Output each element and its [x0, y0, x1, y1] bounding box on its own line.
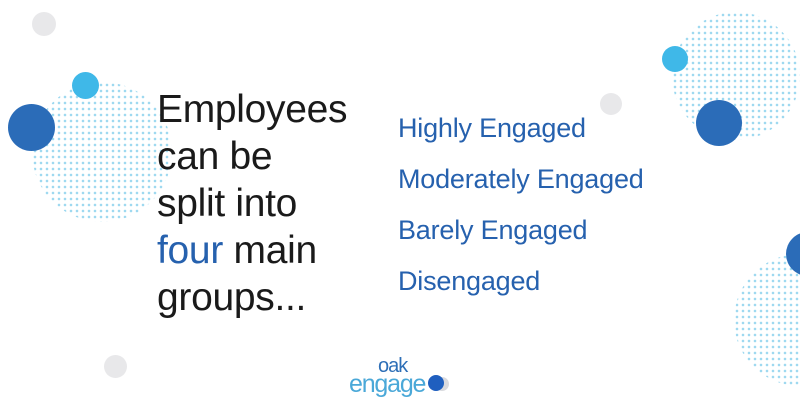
- headline-line-4-rest: main: [223, 229, 317, 272]
- headline: Employees can be split into four main gr…: [157, 86, 372, 321]
- cyan-circle-top-left: [72, 72, 99, 99]
- headline-line-3: split into: [157, 182, 297, 225]
- cyan-circle-top-right: [662, 46, 688, 72]
- logo-svg: oak engage: [345, 352, 455, 404]
- engagement-group-list: Highly Engaged Moderately Engaged Barely…: [398, 103, 728, 307]
- slide-canvas: Employees can be split into four main gr…: [0, 0, 800, 420]
- blue-circle-top-left: [8, 104, 55, 151]
- group-item-barely-engaged: Barely Engaged: [398, 205, 728, 256]
- logo-mark-blue-circle: [428, 375, 444, 391]
- dotted-circle-bottom-right: [734, 254, 800, 386]
- logo-word-engage: engage: [349, 370, 426, 398]
- oak-engage-logo: oak engage: [345, 352, 455, 404]
- group-item-disengaged: Disengaged: [398, 256, 728, 307]
- headline-line-5: groups...: [157, 276, 306, 319]
- group-item-highly-engaged: Highly Engaged: [398, 103, 728, 154]
- headline-line-1: Employees: [157, 88, 347, 131]
- headline-line-2: can be: [157, 135, 272, 178]
- dotted-circle-top-left: [32, 82, 172, 222]
- headline-highlight-word: four: [157, 229, 223, 272]
- gray-circle-top-left: [32, 12, 56, 36]
- gray-circle-bottom-left: [104, 355, 127, 378]
- group-item-moderately-engaged: Moderately Engaged: [398, 154, 728, 205]
